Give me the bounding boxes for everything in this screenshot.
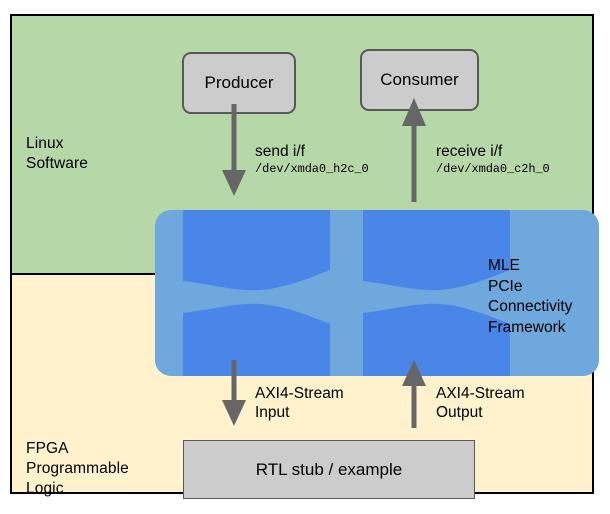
edge-label-receive-device: /dev/xmda0_c2h_0 <box>436 161 550 178</box>
edge-label-receive-title: receive i/f <box>436 142 550 161</box>
edge-label-receive-interface: receive i/f /dev/xmda0_c2h_0 <box>436 142 550 178</box>
arrow-framework-to-consumer <box>398 98 430 202</box>
region-label-fpga-programmable-logic: FPGA Programmable Logic <box>26 439 129 499</box>
arrow-producer-to-framework <box>218 104 250 200</box>
node-mle-pcie-connectivity-framework[interactable]: MLE PCIe Connectivity Framework <box>155 210 599 376</box>
diagram-frame: Linux Software FPGA Programmable Logic P… <box>10 14 594 494</box>
edge-label-axi-stream-output: AXI4-Stream Output <box>436 384 525 422</box>
edge-label-axi-input-subtitle: Input <box>255 403 344 422</box>
arrow-rtl-stub-to-framework <box>398 360 430 428</box>
edge-label-axi-output-title: AXI4-Stream <box>436 384 525 403</box>
node-producer-label: Producer <box>205 73 274 93</box>
node-rtl-stub[interactable]: RTL stub / example <box>183 440 475 499</box>
node-rtl-stub-label: RTL stub / example <box>256 460 402 480</box>
edge-label-send-interface: send i/f /dev/xmda0_h2c_0 <box>255 142 369 178</box>
node-framework-label: MLE PCIe Connectivity Framework <box>488 256 572 338</box>
edge-label-axi-input-title: AXI4-Stream <box>255 384 344 403</box>
node-consumer-label: Consumer <box>380 70 458 90</box>
diagram-canvas: Linux Software FPGA Programmable Logic P… <box>0 0 610 514</box>
edge-label-send-device: /dev/xmda0_h2c_0 <box>255 161 369 178</box>
region-label-linux-software: Linux Software <box>26 134 88 174</box>
edge-label-axi-stream-input: AXI4-Stream Input <box>255 384 344 422</box>
edge-label-send-title: send i/f <box>255 142 369 161</box>
arrow-framework-to-rtl-stub <box>218 360 250 428</box>
edge-label-axi-output-subtitle: Output <box>436 403 525 422</box>
